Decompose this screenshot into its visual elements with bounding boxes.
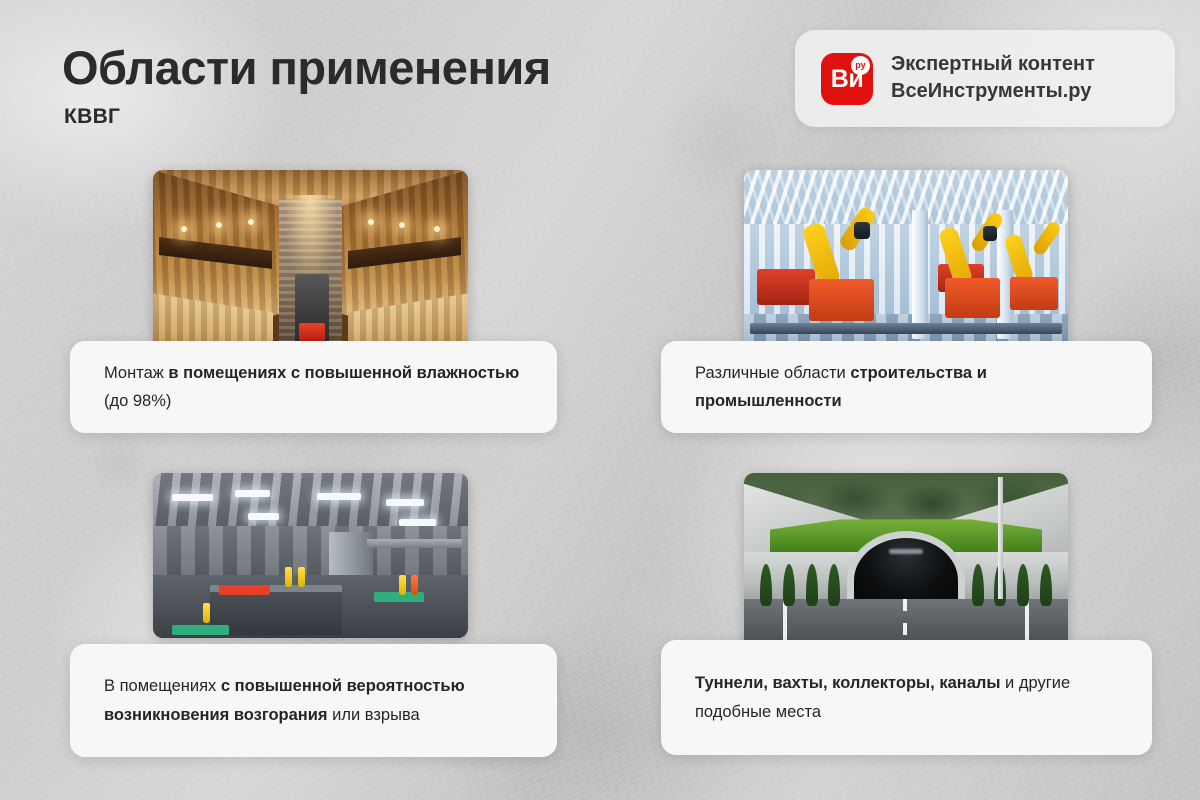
caption-card-factory: Различные области строительства и промыш… [661, 341, 1152, 433]
caption-card-sauna: Монтаж в помещениях с повышенной влажнос… [70, 341, 557, 433]
vseinstrumenty-logo-icon: Ви ру [821, 53, 873, 105]
caption-text-tunnel: Туннели, вахты, коллекторы, каналы и дру… [695, 669, 1118, 726]
robotic-factory-photo [744, 170, 1068, 350]
caption-card-tunnel: Туннели, вахты, коллекторы, каналы и дру… [661, 640, 1152, 755]
caption-text-kitchen: В помещениях с повышенной вероятностью в… [104, 672, 523, 729]
road-tunnel-photo [744, 473, 1068, 653]
brand-line-site: ВсеИнструменты.ру [891, 80, 1095, 104]
commercial-kitchen-photo [153, 473, 468, 638]
brand-logo-ru-badge: ру [851, 56, 870, 75]
sauna-interior-photo [153, 170, 468, 350]
page-title: Области применения [62, 44, 551, 91]
caption-text-sauna: Монтаж в помещениях с повышенной влажнос… [104, 359, 523, 416]
caption-card-kitchen: В помещениях с повышенной вероятностью в… [70, 644, 557, 757]
caption-text-factory: Различные области строительства и промыш… [695, 359, 1118, 416]
brand-badge[interactable]: Ви ру Экспертный контент ВсеИнструменты.… [795, 30, 1175, 127]
brand-line-expert: Экспертный контент [891, 53, 1095, 77]
brand-text-lines: Экспертный контент ВсеИнструменты.ру [891, 53, 1095, 103]
page-subtitle: КВВГ [64, 106, 120, 127]
